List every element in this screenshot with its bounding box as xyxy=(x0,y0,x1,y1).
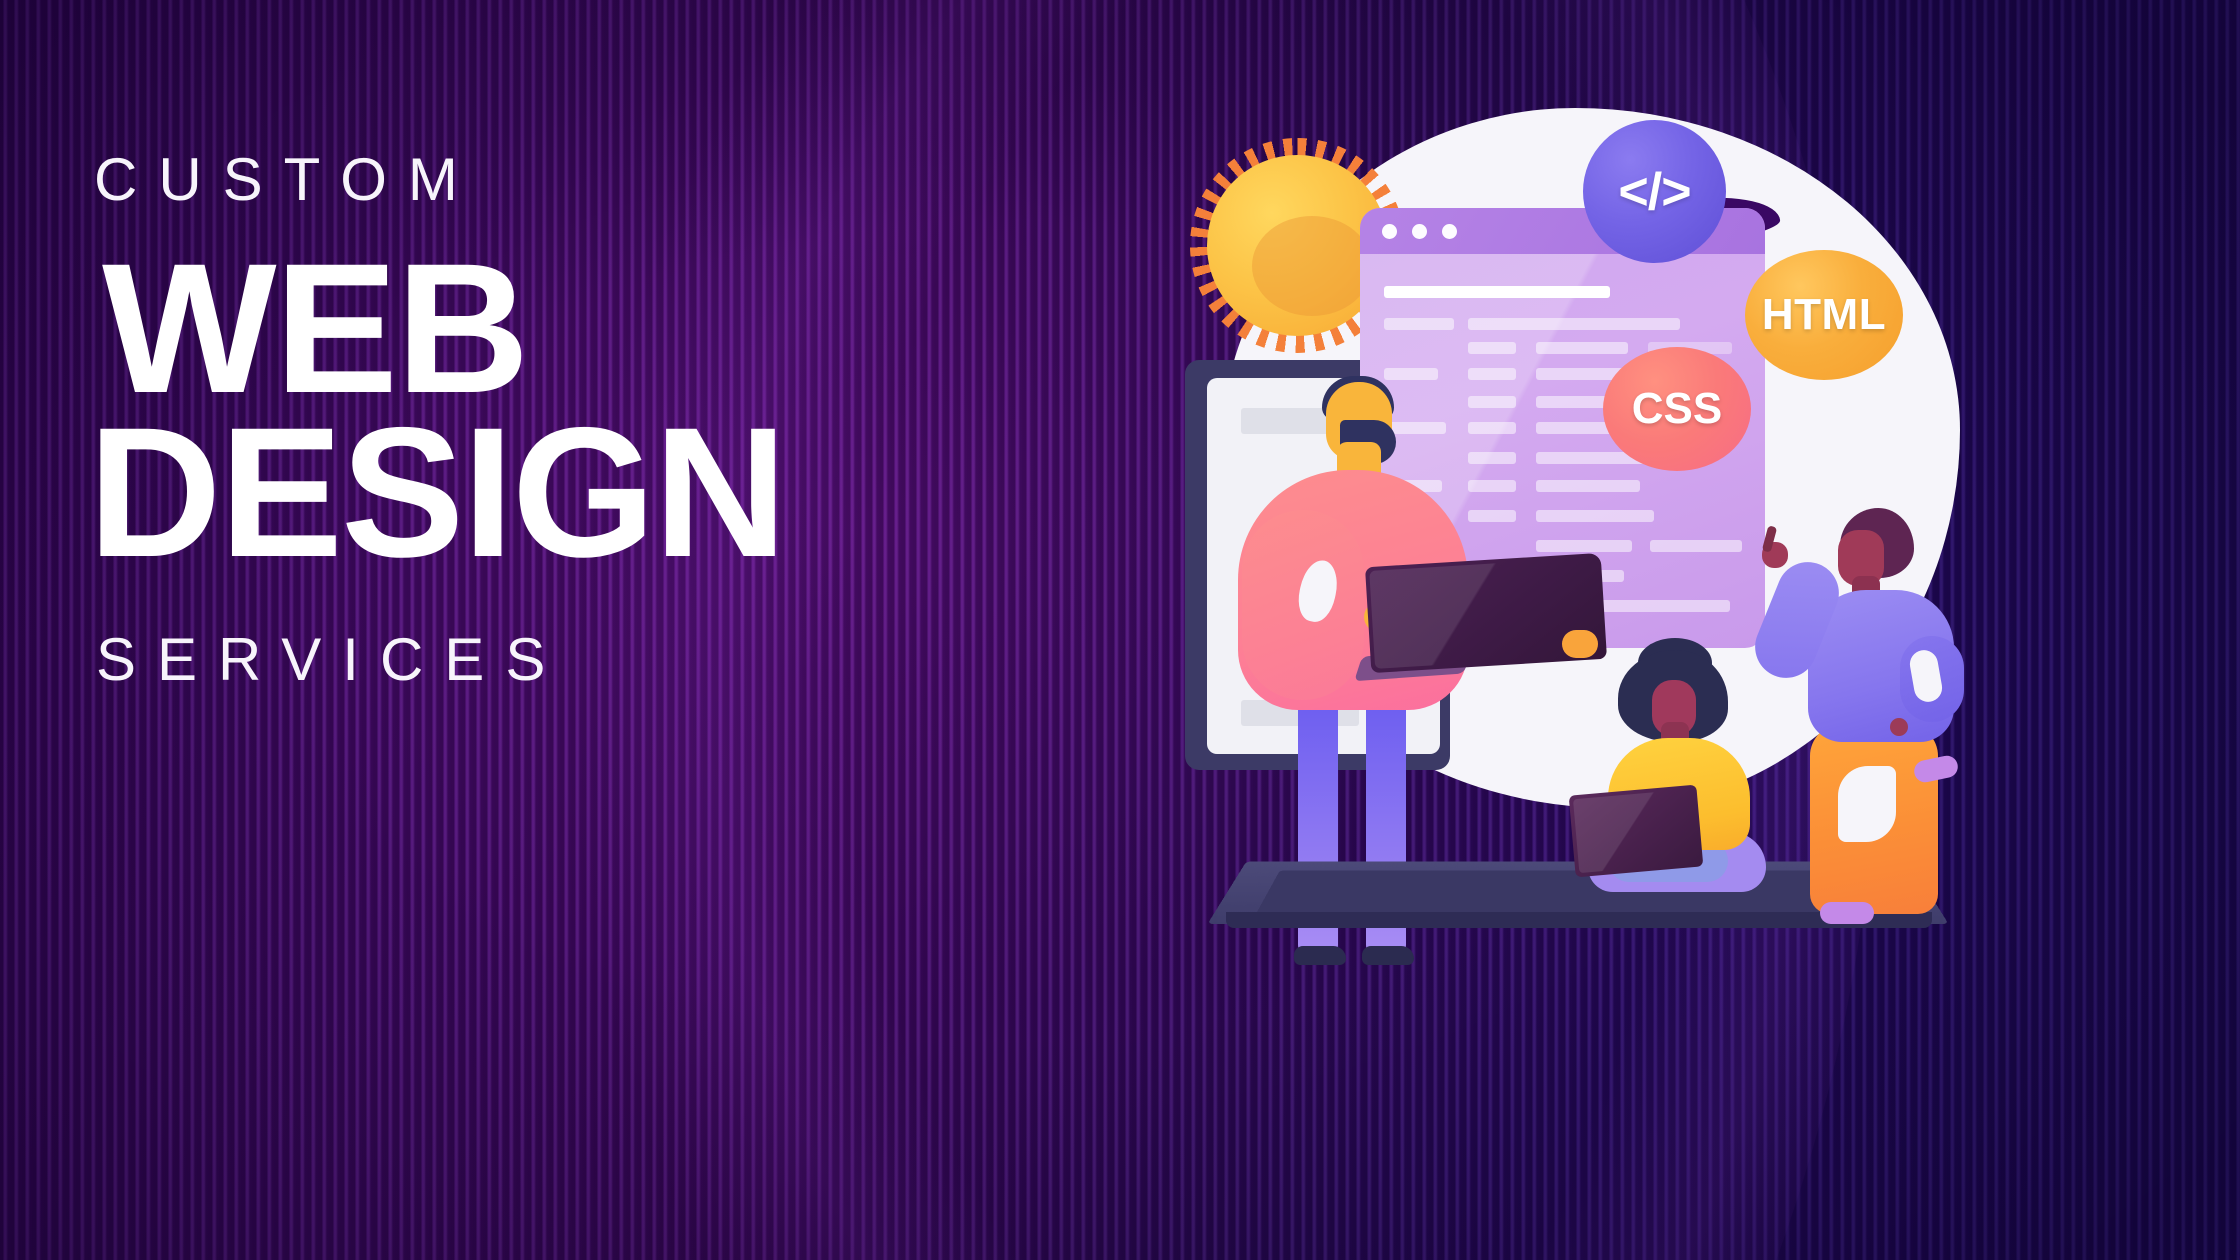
seated-laptop xyxy=(1569,785,1704,878)
headline-kicker: CUSTOM xyxy=(90,150,850,210)
code-badge[interactable]: </> xyxy=(1583,120,1726,263)
headline-line-design: DESIGN xyxy=(88,408,850,578)
developer-shoe-left xyxy=(1294,946,1346,965)
sun-shadow xyxy=(1252,216,1372,316)
promo-banner: CUSTOM WEB DESIGN SERVICES xyxy=(0,0,2240,1260)
laptop-screen-sheen xyxy=(1573,789,1699,873)
standing-shirt-accent xyxy=(1890,718,1908,736)
css-badge[interactable]: CSS xyxy=(1603,347,1751,471)
code-badge-label: </> xyxy=(1618,162,1690,222)
developer-shoe-right xyxy=(1362,946,1414,965)
developer-hand-right xyxy=(1562,630,1598,658)
headline-block: CUSTOM WEB DESIGN SERVICES xyxy=(90,150,850,690)
html-badge[interactable]: HTML xyxy=(1745,250,1903,380)
laptop-platform-inner xyxy=(1255,871,1901,916)
hero-illustration: </> HTML CSS xyxy=(1190,90,2210,1170)
window-dot-maximize[interactable] xyxy=(1442,224,1457,239)
headline-line-web: WEB xyxy=(102,244,850,414)
window-dot-minimize[interactable] xyxy=(1412,224,1427,239)
standing-leg-gap xyxy=(1838,766,1896,842)
standing-shoe xyxy=(1820,902,1874,924)
css-badge-label: CSS xyxy=(1632,384,1722,434)
html-badge-label: HTML xyxy=(1762,290,1886,340)
headline-footer-services: SERVICES xyxy=(96,630,850,690)
window-dot-close[interactable] xyxy=(1382,224,1397,239)
